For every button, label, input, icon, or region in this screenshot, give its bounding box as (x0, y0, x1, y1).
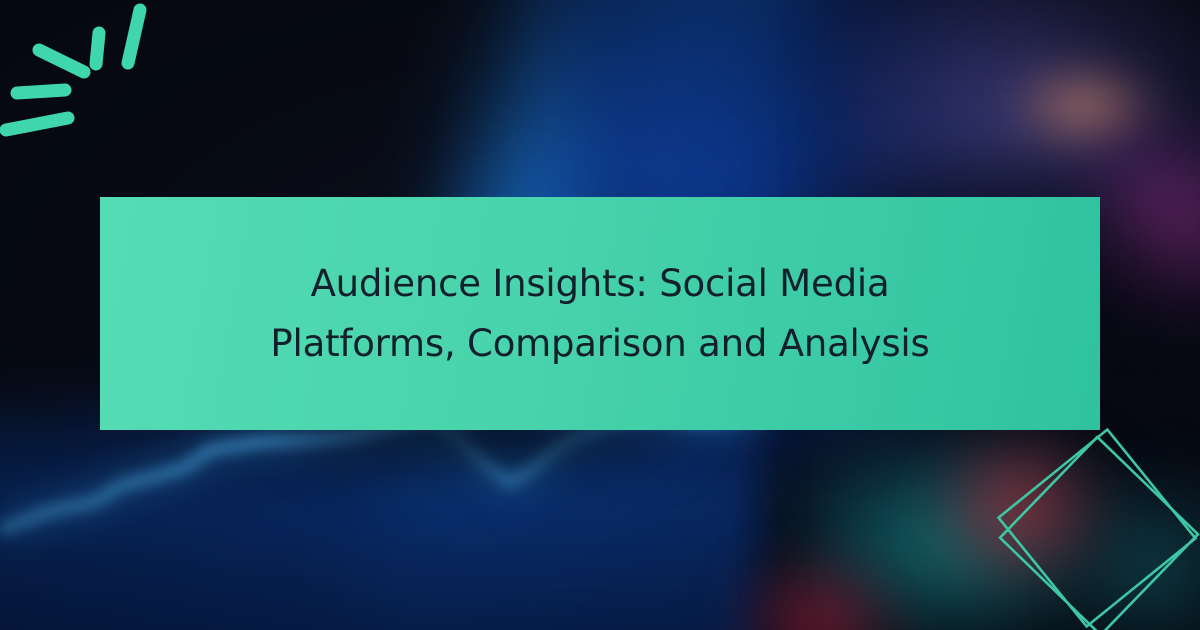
page-title: Audience Insights: Social Media Platform… (235, 254, 965, 374)
headline-banner: Audience Insights: Social Media Platform… (100, 197, 1100, 430)
sparkle-burst-icon (0, 0, 170, 150)
social-share-card: Audience Insights: Social Media Platform… (0, 0, 1200, 630)
rotated-squares-icon (985, 420, 1200, 630)
